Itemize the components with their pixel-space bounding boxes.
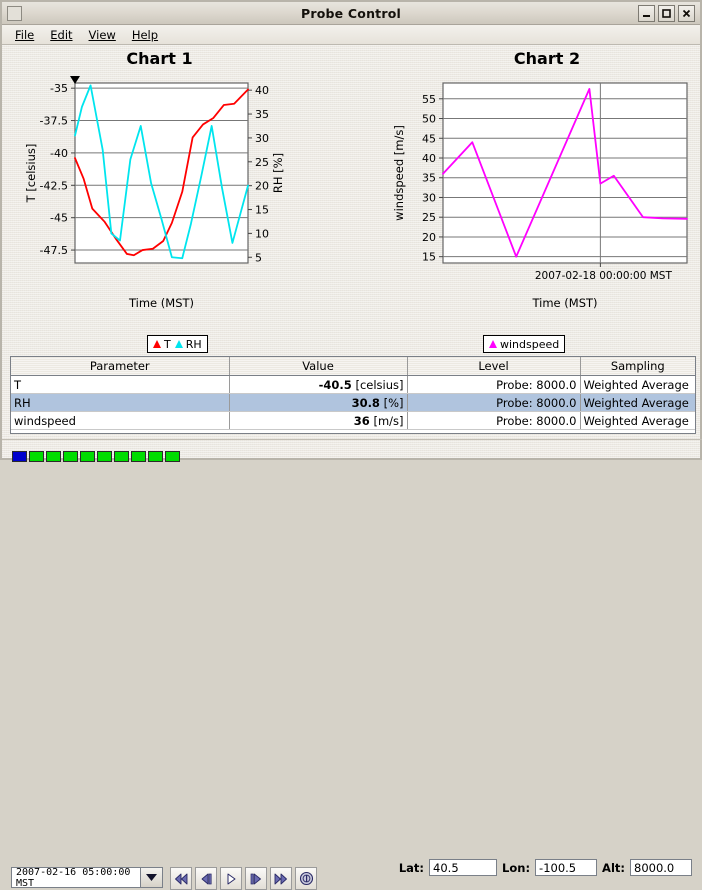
y2-axis-tick-label: 25 <box>255 156 269 169</box>
cell-level: Probe: 8000.0 <box>407 376 580 394</box>
cell-value: -40.5 [celsius] <box>229 376 407 394</box>
load-progress-blocks <box>12 451 180 462</box>
y2-axis-tick-label: 5 <box>255 251 262 264</box>
bottom-toolbar: 2007-02-16 05:00:00 MST <box>2 439 702 502</box>
legend-label: RH <box>186 338 202 351</box>
menu-help-label: Help <box>132 28 158 42</box>
lat-label: Lat: <box>399 861 424 875</box>
chart2-plot[interactable]: 1520253035404550552007-02-18 00:00:00 MS… <box>387 71 697 311</box>
y-axis-tick-label: 30 <box>422 191 436 204</box>
maximize-button[interactable] <box>658 5 675 22</box>
cell-sampling: Weighted Average <box>580 394 695 412</box>
x-axis-label: Time (MST) <box>128 296 194 310</box>
alt-label: Alt: <box>602 861 625 875</box>
chart2-title: Chart 2 <box>432 49 662 68</box>
y-axis-label: T [celsius] <box>24 144 38 204</box>
cell-parameter: T <box>11 376 229 394</box>
menu-bar: File Edit View Help <box>2 25 700 45</box>
legend-label: T <box>164 338 171 351</box>
window-title: Probe Control <box>2 6 700 21</box>
legend-marker-icon <box>175 340 183 348</box>
progress-block <box>63 451 78 462</box>
y-axis-tick-label: 25 <box>422 211 436 224</box>
column-header-parameter[interactable]: Parameter <box>11 357 229 376</box>
y-axis-tick-label: -45 <box>50 212 68 225</box>
column-header-level[interactable]: Level <box>407 357 580 376</box>
cell-value: 36 [m/s] <box>229 412 407 430</box>
value-number: 30.8 <box>352 396 380 410</box>
y2-axis-tick-label: 30 <box>255 132 269 145</box>
y-axis-tick-label: -42.5 <box>40 179 68 192</box>
y2-axis-label: RH [%] <box>271 153 285 193</box>
probe-control-window: Probe Control File Edit View Help Chart … <box>0 0 702 460</box>
loop-icon <box>299 871 314 886</box>
y-axis-tick-label: -35 <box>50 82 68 95</box>
y-axis-tick-label: 15 <box>422 251 436 264</box>
x-axis-label: Time (MST) <box>531 296 597 310</box>
play-button[interactable] <box>220 867 242 890</box>
menu-view[interactable]: View <box>82 26 123 44</box>
progress-block <box>29 451 44 462</box>
y-axis-tick-label: -37.5 <box>40 115 68 128</box>
lat-input[interactable] <box>429 859 497 876</box>
rewind-all-icon <box>174 873 188 885</box>
coordinates-panel: Lat: Lon: Alt: <box>399 859 692 876</box>
menu-file-label: File <box>15 28 34 42</box>
progress-block <box>80 451 95 462</box>
forward-all-icon <box>274 873 288 885</box>
step-back-button[interactable] <box>195 867 217 890</box>
menu-help[interactable]: Help <box>125 26 165 44</box>
alt-input[interactable] <box>630 859 692 876</box>
y-axis-label: windspeed [m/s] <box>392 125 406 221</box>
legend-marker-icon <box>153 340 161 348</box>
play-icon <box>224 873 238 885</box>
title-bar: Probe Control <box>2 2 700 25</box>
legend-label: windspeed <box>500 338 559 351</box>
progress-block <box>114 451 129 462</box>
progress-block <box>46 451 61 462</box>
y-axis-tick-label: 20 <box>422 231 436 244</box>
value-unit: [celsius] <box>355 378 403 392</box>
skip-to-end-button[interactable] <box>270 867 292 890</box>
column-header-sampling[interactable]: Sampling <box>580 357 695 376</box>
lon-input[interactable] <box>535 859 597 876</box>
window-controls <box>638 5 695 22</box>
time-combobox[interactable]: 2007-02-16 05:00:00 MST <box>11 867 163 888</box>
cell-sampling: Weighted Average <box>580 376 695 394</box>
menu-edit-label: Edit <box>50 28 72 42</box>
step-forward-button[interactable] <box>245 867 267 890</box>
charts-panel: Chart 1 Chart 2 -35-37.5-40-42.5-45-47.5… <box>2 45 702 315</box>
cell-sampling: Weighted Average <box>580 412 695 430</box>
progress-block <box>148 451 163 462</box>
table-row[interactable]: T-40.5 [celsius]Probe: 8000.0Weighted Av… <box>11 376 695 394</box>
maximize-icon <box>662 9 671 18</box>
progress-block <box>12 451 27 462</box>
y-axis-tick-label: 50 <box>422 113 436 126</box>
y-axis-tick-label: 45 <box>422 132 436 145</box>
step-forward-icon <box>249 873 263 885</box>
legend-marker-icon <box>489 340 497 348</box>
chevron-down-icon <box>146 874 157 881</box>
legend-entry[interactable]: windspeed <box>489 338 559 351</box>
playback-controls <box>170 867 317 890</box>
y-axis-tick-label: 55 <box>422 93 436 106</box>
y2-axis-tick-label: 35 <box>255 108 269 121</box>
skip-to-start-button[interactable] <box>170 867 192 890</box>
lon-label: Lon: <box>502 861 530 875</box>
loop-button[interactable] <box>295 867 317 890</box>
y-axis-tick-label: -40 <box>50 147 68 160</box>
y-axis-tick-label: 40 <box>422 152 436 165</box>
minimize-button[interactable] <box>638 5 655 22</box>
table-body: T-40.5 [celsius]Probe: 8000.0Weighted Av… <box>11 376 695 430</box>
table-header-row: Parameter Value Level Sampling <box>11 357 695 376</box>
menu-file[interactable]: File <box>8 26 41 44</box>
menu-edit[interactable]: Edit <box>43 26 79 44</box>
y2-axis-tick-label: 15 <box>255 204 269 217</box>
cell-level: Probe: 8000.0 <box>407 412 580 430</box>
close-button[interactable] <box>678 5 695 22</box>
time-combobox-arrow[interactable] <box>140 867 163 888</box>
y2-axis-tick-label: 40 <box>255 84 269 97</box>
chart1-title: Chart 1 <box>62 49 257 68</box>
y-axis-tick-label: 35 <box>422 172 436 185</box>
step-back-icon <box>199 873 213 885</box>
y-axis-tick-label: -47.5 <box>40 244 68 257</box>
value-unit: [m/s] <box>373 414 403 428</box>
time-combobox-value[interactable]: 2007-02-16 05:00:00 MST <box>11 867 140 888</box>
x-axis-tick-label: 2007-02-18 00:00:00 MST <box>535 270 673 282</box>
value-unit: [%] <box>384 396 404 410</box>
progress-block <box>97 451 112 462</box>
value-number: 36 <box>354 414 370 428</box>
chart2-legend[interactable]: windspeed <box>483 335 565 353</box>
parameters-table-container[interactable]: Parameter Value Level Sampling T-40.5 [c… <box>10 356 696 434</box>
cell-level: Probe: 8000.0 <box>407 394 580 412</box>
legend-entry[interactable]: RH <box>175 338 202 351</box>
legend-entry[interactable]: T <box>153 338 171 351</box>
chart1-legend[interactable]: TRH <box>147 335 208 353</box>
parameters-table: Parameter Value Level Sampling T-40.5 [c… <box>11 357 695 430</box>
table-row[interactable]: windspeed36 [m/s]Probe: 8000.0Weighted A… <box>11 412 695 430</box>
table-row[interactable]: RH30.8 [%]Probe: 8000.0Weighted Average <box>11 394 695 412</box>
column-header-value[interactable]: Value <box>229 357 407 376</box>
main-content: Chart 1 Chart 2 -35-37.5-40-42.5-45-47.5… <box>2 45 700 458</box>
cell-parameter: RH <box>11 394 229 412</box>
minimize-icon <box>642 9 651 18</box>
y2-axis-tick-label: 20 <box>255 180 269 193</box>
value-number: -40.5 <box>319 378 352 392</box>
close-icon <box>682 9 691 18</box>
cell-parameter: windspeed <box>11 412 229 430</box>
y2-axis-tick-label: 10 <box>255 227 269 240</box>
cell-value: 30.8 [%] <box>229 394 407 412</box>
progress-block <box>131 451 146 462</box>
menu-view-label: View <box>89 28 116 42</box>
chart1-plot[interactable]: -35-37.5-40-42.5-45-47.5510152025303540R… <box>10 71 300 311</box>
progress-block <box>165 451 180 462</box>
